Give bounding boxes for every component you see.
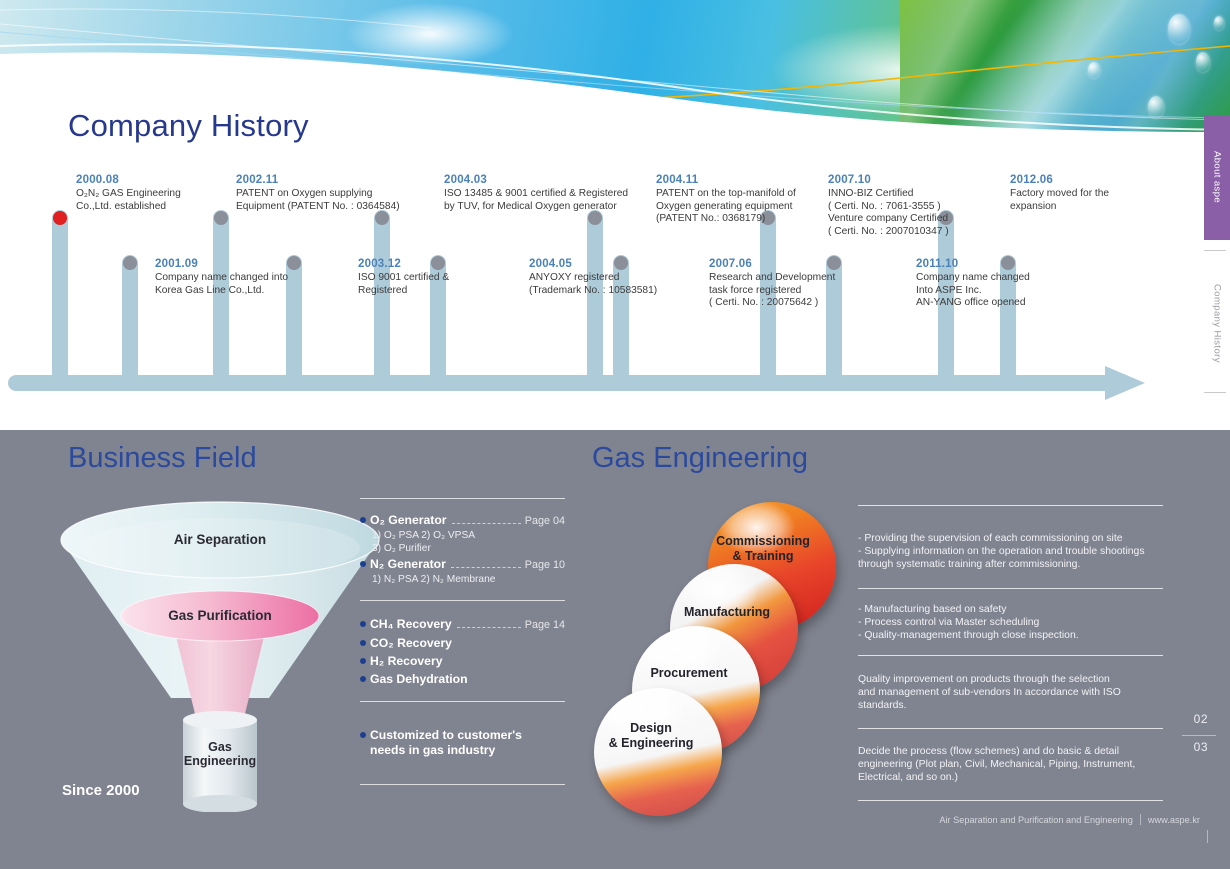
page-title: Company History bbox=[68, 108, 309, 144]
ge-step-block: Quality improvement on products through … bbox=[858, 655, 1163, 712]
footer-tagline: Air Separation and Purification and Engi… bbox=[939, 815, 1133, 825]
sidebar-tab-divider bbox=[1204, 250, 1226, 251]
event-description: Research and Development task force regi… bbox=[709, 272, 884, 310]
bullet-icon bbox=[360, 517, 366, 523]
event-description: Factory moved for the expansion bbox=[1010, 188, 1160, 213]
page-number-divider bbox=[1182, 735, 1216, 736]
list-group: Customized to customer's needs in gas in… bbox=[360, 702, 565, 784]
footer-divider bbox=[1140, 814, 1141, 825]
sphere-label-commissioning: Commissioning & Training bbox=[700, 534, 826, 563]
list-item-label: Customized to customer's needs in gas in… bbox=[370, 728, 522, 758]
funnel-stage-label-gas-purification: Gas Purification bbox=[55, 608, 385, 623]
page-reference: Page 10 bbox=[525, 558, 565, 573]
event-date: 2007.10 bbox=[828, 174, 1003, 186]
list-item: N₂ Generator Page 10 bbox=[360, 557, 565, 573]
event-date: 2002.11 bbox=[236, 174, 436, 186]
list-group: CH₄ Recovery Page 14 CO₂ Recovery H₂ Rec… bbox=[360, 601, 565, 701]
event-date: 2004.11 bbox=[656, 174, 831, 186]
sphere-design-engineering bbox=[594, 688, 722, 816]
since-label: Since 2000 bbox=[62, 782, 140, 799]
list-item-label: H₂ Recovery bbox=[370, 654, 442, 669]
sphere-label-manufacturing: Manufacturing bbox=[664, 605, 790, 620]
list-item-label: Gas Dehydration bbox=[370, 672, 468, 687]
timeline-event-bottom: 2011.10 Company name changed Into ASPE I… bbox=[916, 258, 1081, 310]
event-date: 2011.10 bbox=[916, 258, 1081, 270]
list-subitem: 3) O₂ Purifier bbox=[372, 542, 565, 555]
event-description: ISO 9001 certified & Registered bbox=[358, 272, 498, 297]
event-description: ANYOXY registered (Trademark No. : 10583… bbox=[529, 272, 689, 297]
event-date: 2004.03 bbox=[444, 174, 659, 186]
ge-divider bbox=[858, 505, 1163, 506]
sidebar-tab-label: Company History bbox=[1212, 284, 1223, 363]
ge-step-description: Decide the process (flow schemes) and do… bbox=[858, 745, 1163, 784]
list-item: Customized to customer's needs in gas in… bbox=[360, 728, 565, 758]
event-description: ISO 13485 & 9001 certified & Registered … bbox=[444, 188, 659, 213]
list-group: O₂ Generator Page 04 1) O₂ PSA 2) O₂ VPS… bbox=[360, 499, 565, 600]
page-number-left: 02 bbox=[1194, 712, 1208, 726]
timeline-event-bottom: 2004.05 ANYOXY registered (Trademark No.… bbox=[529, 258, 689, 297]
footer-tick bbox=[1207, 830, 1208, 843]
sidebar-tab-about-aspe[interactable]: About aspe bbox=[1204, 115, 1230, 240]
funnel-stage-label-gas-engineering: Gas Engineering bbox=[55, 740, 385, 768]
ge-divider bbox=[858, 800, 1163, 801]
bullet-icon bbox=[360, 640, 366, 646]
ge-step-description: - Providing the supervision of each comm… bbox=[858, 532, 1163, 571]
ge-step-block: Decide the process (flow schemes) and do… bbox=[858, 728, 1163, 801]
footer-website: www.aspe.kr bbox=[1148, 815, 1200, 825]
list-item: Gas Dehydration bbox=[360, 672, 565, 687]
page-reference: Page 14 bbox=[525, 618, 565, 633]
list-item-label: CO₂ Recovery bbox=[370, 636, 452, 651]
sidebar-tab-company-history[interactable]: Company History bbox=[1204, 268, 1230, 378]
event-date: 2004.05 bbox=[529, 258, 689, 270]
bullet-icon bbox=[360, 676, 366, 682]
timeline-event-top: 2000.08 O₂N₂ GAS Engineering Co.,Ltd. es… bbox=[76, 174, 231, 213]
gas-engineering-spheres: Commissioning & Training Manufacturing P… bbox=[592, 492, 852, 822]
list-item: H₂ Recovery bbox=[360, 654, 565, 669]
business-field-funnel: Air Separation Gas Purification Gas Engi… bbox=[55, 492, 385, 812]
event-description: Company name changed into Korea Gas Line… bbox=[155, 272, 330, 297]
timeline-event-top: 2012.06 Factory moved for the expansion bbox=[1010, 174, 1160, 213]
timeline-event-bottom: 2003.12 ISO 9001 certified & Registered bbox=[358, 258, 498, 297]
event-date: 2012.06 bbox=[1010, 174, 1160, 186]
ge-step-block: - Manufacturing based on safety - Proces… bbox=[858, 588, 1163, 642]
sphere-label-procurement: Procurement bbox=[626, 666, 752, 681]
event-description: Company name changed Into ASPE Inc. AN-Y… bbox=[916, 272, 1081, 310]
timeline-event-top: 2007.10 INNO-BIZ Certified ( Certi. No. … bbox=[828, 174, 1003, 238]
sidebar-tab-label: About aspe bbox=[1212, 151, 1223, 203]
ge-step-description: - Manufacturing based on safety - Proces… bbox=[858, 603, 1163, 642]
timeline-event-top: 2002.11 PATENT on Oxygen supplying Equip… bbox=[236, 174, 436, 213]
event-description: PATENT on the top-manifold of Oxygen gen… bbox=[656, 188, 831, 226]
bullet-icon bbox=[360, 561, 366, 567]
dotted-leader bbox=[451, 567, 521, 568]
ge-step-block: - Providing the supervision of each comm… bbox=[858, 505, 1163, 571]
sphere-label-design-engineering: Design & Engineering bbox=[588, 721, 714, 750]
gas-engineering-title: Gas Engineering bbox=[592, 442, 808, 475]
list-item: O₂ Generator Page 04 bbox=[360, 513, 565, 529]
business-field-title: Business Field bbox=[68, 442, 257, 475]
timeline-event-bottom: 2007.06 Research and Development task fo… bbox=[709, 258, 884, 310]
dotted-leader bbox=[457, 627, 521, 628]
page-reference: Page 04 bbox=[525, 514, 565, 529]
bullet-icon bbox=[360, 621, 366, 627]
event-date: 2000.08 bbox=[76, 174, 231, 186]
ge-divider bbox=[858, 655, 1163, 656]
event-description: PATENT on Oxygen supplying Equipment (PA… bbox=[236, 188, 436, 213]
ge-divider bbox=[858, 728, 1163, 729]
event-description: O₂N₂ GAS Engineering Co.,Ltd. establishe… bbox=[76, 188, 231, 213]
timeline-event-top: 2004.11 PATENT on the top-manifold of Ox… bbox=[656, 174, 831, 226]
ge-step-description: Quality improvement on products through … bbox=[858, 673, 1163, 712]
footer: Air Separation and Purification and Engi… bbox=[939, 814, 1200, 825]
ge-divider bbox=[858, 588, 1163, 589]
business-field-list: O₂ Generator Page 04 1) O₂ PSA 2) O₂ VPS… bbox=[360, 498, 565, 785]
bullet-icon bbox=[360, 732, 366, 738]
list-item-label: CH₄ Recovery bbox=[370, 617, 452, 632]
dotted-leader bbox=[452, 523, 521, 524]
timeline-event-top: 2004.03 ISO 13485 & 9001 certified & Reg… bbox=[444, 174, 659, 213]
event-date: 2001.09 bbox=[155, 258, 330, 270]
funnel-stage-label-air-separation: Air Separation bbox=[55, 532, 385, 547]
sidebar-tab-divider bbox=[1204, 392, 1226, 393]
timeline-event-bottom: 2001.09 Company name changed into Korea … bbox=[155, 258, 330, 297]
bullet-icon bbox=[360, 658, 366, 664]
list-subitem: 1) N₂ PSA 2) N₂ Membrane bbox=[372, 573, 565, 586]
event-date: 2003.12 bbox=[358, 258, 498, 270]
page-number-right: 03 bbox=[1194, 740, 1208, 754]
list-item: CH₄ Recovery Page 14 bbox=[360, 617, 565, 633]
list-item: CO₂ Recovery bbox=[360, 636, 565, 651]
event-description: INNO-BIZ Certified ( Certi. No. : 7061-3… bbox=[828, 188, 1003, 238]
timeline-start-marker bbox=[53, 211, 67, 225]
list-divider bbox=[360, 784, 565, 785]
company-history-timeline: 2000.08 O₂N₂ GAS Engineering Co.,Ltd. es… bbox=[0, 160, 1190, 425]
list-item-label: O₂ Generator bbox=[370, 513, 447, 528]
event-date: 2007.06 bbox=[709, 258, 884, 270]
list-subitem: 1) O₂ PSA 2) O₂ VPSA bbox=[372, 529, 565, 542]
list-item-label: N₂ Generator bbox=[370, 557, 446, 572]
